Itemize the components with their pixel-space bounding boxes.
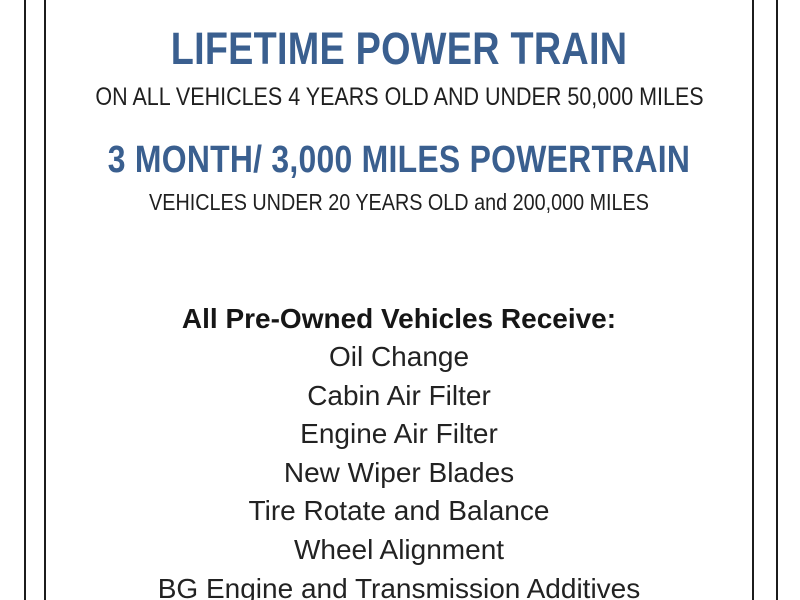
warranty-headline-lifetime: LIFETIME POWER TRAIN: [102, 26, 695, 71]
frame-rule-left-outer: [24, 0, 26, 600]
flyer-content: LIFETIME POWER TRAIN ON ALL VEHICLES 4 Y…: [46, 0, 752, 600]
list-item: New Wiper Blades: [46, 454, 752, 493]
list-item: Cabin Air Filter: [46, 377, 752, 416]
list-item: Engine Air Filter: [46, 415, 752, 454]
list-item: Tire Rotate and Balance: [46, 492, 752, 531]
warranty-subhead-lifetime: ON ALL VEHICLES 4 YEARS OLD AND UNDER 50…: [95, 85, 702, 110]
warranty-block-three-month: 3 MONTH/ 3,000 MILES POWERTRAIN VEHICLES…: [46, 141, 752, 214]
list-item: BG Engine and Transmission Additives: [46, 570, 752, 600]
warranty-headline-three-month: 3 MONTH/ 3,000 MILES POWERTRAIN: [102, 141, 695, 179]
services-list: All Pre-Owned Vehicles Receive: Oil Chan…: [46, 300, 752, 600]
list-item: Wheel Alignment: [46, 531, 752, 570]
flyer-page: LIFETIME POWER TRAIN ON ALL VEHICLES 4 Y…: [0, 0, 800, 600]
list-item: Oil Change: [46, 338, 752, 377]
warranty-subhead-three-month: VEHICLES UNDER 20 YEARS OLD and 200,000 …: [95, 191, 702, 214]
frame-rule-right-inner: [752, 0, 754, 600]
warranty-block-lifetime: LIFETIME POWER TRAIN ON ALL VEHICLES 4 Y…: [46, 26, 752, 110]
frame-rule-right-outer: [776, 0, 778, 600]
services-list-title: All Pre-Owned Vehicles Receive:: [46, 300, 752, 338]
